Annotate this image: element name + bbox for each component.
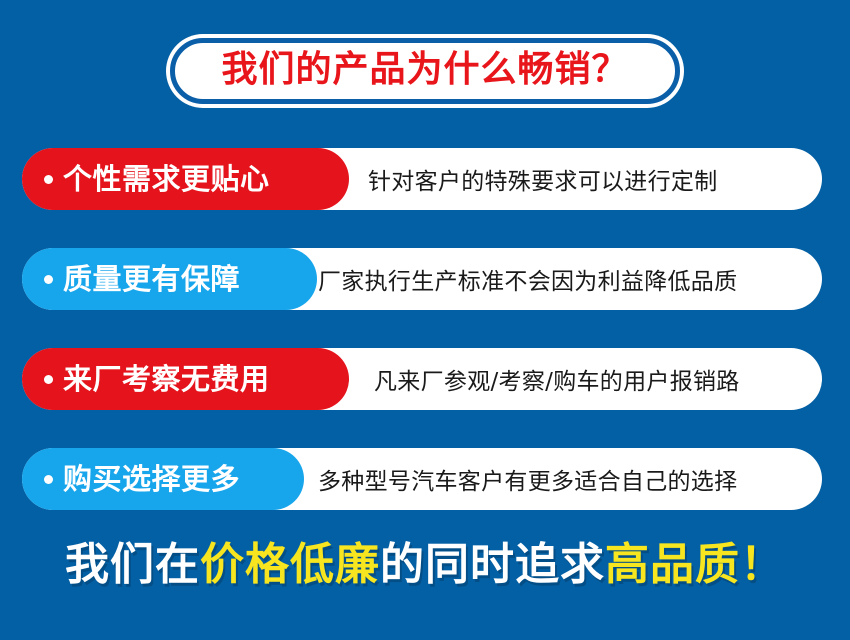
title-section: 我们的产品为什么畅销？ [0,38,850,104]
title-pill: 我们的产品为什么畅销？ [170,38,679,104]
footer-part-2-highlight: 价格低廉 [200,539,380,590]
bullet-dot-icon [44,475,53,484]
feature-description: 多种型号汽车客户有更多适合自己的选择 [318,448,737,510]
footer-part-1: 我们在 [65,539,200,590]
feature-pill: 质量更有保障 [22,248,317,310]
page-title: 我们的产品为什么畅销？ [221,50,628,90]
feature-row: 购买选择更多 多种型号汽车客户有更多适合自己的选择 [0,448,850,510]
footer-part-4-highlight: 高品质！ [605,539,785,590]
feature-label: 购买选择更多 [63,465,240,494]
feature-description: 凡来厂参观/考察/购车的用户报销路 [374,348,740,410]
feature-label: 来厂考察无费用 [63,365,270,394]
feature-description: 厂家执行生产标准不会因为利益降低品质 [318,248,737,310]
footer-part-3: 的同时追求 [380,539,605,590]
bullet-dot-icon [44,175,53,184]
feature-row: 个性需求更贴心 针对客户的特殊要求可以进行定制 [0,148,850,210]
feature-label: 个性需求更贴心 [63,165,270,194]
feature-row: 质量更有保障 厂家执行生产标准不会因为利益降低品质 [0,248,850,310]
feature-pill: 来厂考察无费用 [22,348,349,410]
feature-description: 针对客户的特殊要求可以进行定制 [368,148,718,210]
promo-poster: 我们的产品为什么畅销？ 个性需求更贴心 针对客户的特殊要求可以进行定制 质量更有… [0,0,850,640]
feature-label: 质量更有保障 [63,265,240,294]
bullet-dot-icon [44,375,53,384]
feature-pill: 个性需求更贴心 [22,148,349,210]
footer-slogan-text: 我们在价格低廉的同时追求高品质！ [65,543,785,587]
footer-slogan: 我们在价格低廉的同时追求高品质！ [0,543,850,587]
bullet-dot-icon [44,275,53,284]
feature-pill: 购买选择更多 [22,448,304,510]
feature-row: 来厂考察无费用 凡来厂参观/考察/购车的用户报销路 [0,348,850,410]
feature-list: 个性需求更贴心 针对客户的特殊要求可以进行定制 质量更有保障 厂家执行生产标准不… [0,148,850,548]
